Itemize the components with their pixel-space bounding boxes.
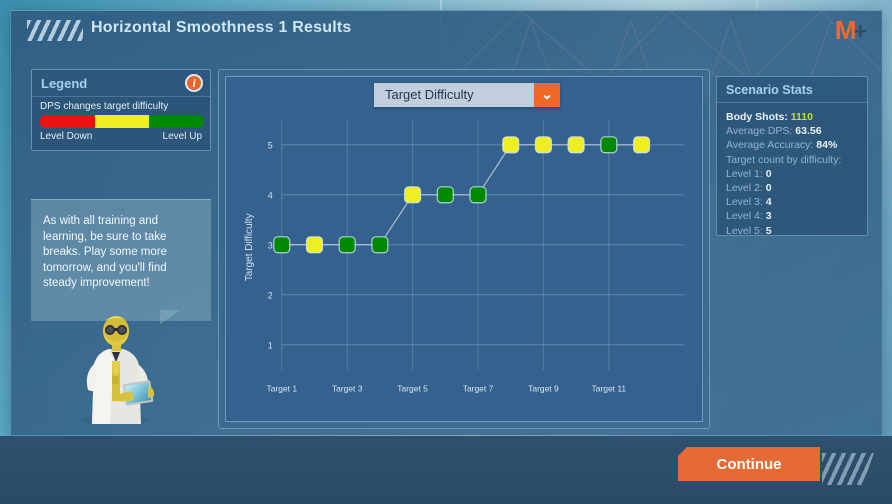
legend-panel: Legend i DPS changes target difficulty L… [31, 69, 211, 151]
data-point-marker[interactable] [372, 237, 388, 253]
x-axis-tick-label: Target 5 [397, 384, 428, 394]
stat-row: Average DPS: 63.56 [726, 124, 867, 138]
legend-color-green [149, 115, 204, 128]
data-point-marker[interactable] [535, 137, 551, 153]
stat-row: Level 5: 5 [726, 224, 867, 238]
scenario-stats-header: Scenario Stats [717, 77, 867, 103]
y-axis-tick-label: 2 [268, 290, 273, 300]
stat-row: Level 2: 0 [726, 181, 867, 195]
stat-value: 84% [813, 139, 837, 151]
stat-row: Level 4: 3 [726, 209, 867, 223]
y-axis-tick-label: 4 [268, 190, 273, 200]
data-point-marker[interactable] [568, 137, 584, 153]
y-axis-label: Target Difficulty [244, 213, 255, 281]
info-icon[interactable]: i [185, 74, 203, 92]
chart-plot-area: 12345Target 1Target 3Target 5Target 7Tar… [225, 76, 703, 422]
title-bar: Horizontal Smoothness 1 Results M+ [11, 11, 881, 49]
metric-dropdown[interactable]: Target Difficulty ⌄ [374, 83, 560, 107]
stat-value: 0 [763, 168, 772, 180]
data-point-marker[interactable] [470, 187, 486, 203]
stat-label: Level 2: [726, 182, 763, 194]
tip-bubble-tail [160, 310, 180, 324]
target-difficulty-chart: 12345Target 1Target 3Target 5Target 7Tar… [226, 77, 702, 422]
avatar-character [62, 312, 170, 424]
diagonal-stripes-icon [822, 453, 874, 485]
stat-label: Level 3: [726, 196, 763, 208]
data-point-marker[interactable] [274, 237, 290, 253]
legend-header: Legend i [32, 70, 210, 97]
x-axis-tick-label: Target 3 [332, 384, 363, 394]
stat-value: 63.56 [792, 125, 821, 137]
legend-color-yellow [95, 115, 150, 128]
stat-label: Level 1: [726, 168, 763, 180]
data-point-marker[interactable] [307, 237, 323, 253]
scenario-stats-list: Body Shots: 1110Average DPS: 63.56Averag… [717, 103, 867, 238]
stat-label: Body Shots: [726, 111, 788, 123]
scenario-stats-title: Scenario Stats [717, 77, 867, 97]
logo-plus: + [854, 18, 867, 44]
legend-left-label: Level Down [40, 131, 92, 142]
y-axis-tick-label: 5 [268, 140, 273, 150]
footer-bar: Continue [0, 436, 892, 504]
legend-right-label: Level Up [163, 131, 202, 142]
data-point-marker[interactable] [503, 137, 519, 153]
stat-value: 4 [763, 196, 772, 208]
data-point-marker[interactable] [634, 137, 650, 153]
stat-row: Level 1: 0 [726, 167, 867, 181]
tip-text: As with all training and learning, be su… [43, 214, 201, 292]
stat-row: Level 3: 4 [726, 195, 867, 209]
stat-label: Average Accuracy: [726, 139, 813, 151]
data-point-marker[interactable] [405, 187, 421, 203]
x-axis-tick-label: Target 11 [592, 384, 627, 394]
continue-area: Continue [678, 447, 878, 489]
tip-panel: As with all training and learning, be su… [31, 199, 211, 321]
stat-label: Target count by difficulty: [726, 154, 841, 166]
y-axis-tick-label: 1 [268, 340, 273, 350]
stat-row: Target count by difficulty: [726, 153, 867, 167]
stat-label: Level 5: [726, 225, 763, 237]
legend-title: Legend [41, 76, 87, 91]
page-title: Horizontal Smoothness 1 Results [91, 19, 351, 37]
x-axis-tick-label: Target 9 [528, 384, 559, 394]
stat-value: 5 [763, 225, 772, 237]
stat-value: 3 [763, 210, 772, 222]
stat-value: 0 [763, 182, 772, 194]
continue-button[interactable]: Continue [678, 447, 820, 481]
data-point-marker[interactable] [601, 137, 617, 153]
stat-label: Level 4: [726, 210, 763, 222]
legend-subtitle: DPS changes target difficulty [40, 101, 168, 112]
stat-row: Average Accuracy: 84% [726, 138, 867, 152]
diagonal-stripes-icon [27, 20, 83, 41]
chart-card: 12345Target 1Target 3Target 5Target 7Tar… [218, 69, 710, 429]
stat-value: 1110 [788, 111, 813, 123]
x-axis-tick-label: Target 1 [266, 384, 297, 394]
data-point-marker[interactable] [437, 187, 453, 203]
legend-footer: Level Down Level Up [40, 131, 202, 142]
stat-label: Average DPS: [726, 125, 792, 137]
data-point-marker[interactable] [339, 237, 355, 253]
y-axis-tick-label: 3 [268, 240, 273, 250]
stat-row: Body Shots: 1110 [726, 110, 867, 124]
metric-dropdown-value[interactable]: Target Difficulty [374, 83, 534, 107]
chevron-down-icon[interactable]: ⌄ [534, 83, 560, 107]
brand-logo: M+ [835, 17, 867, 43]
legend-gradient-bar [40, 115, 204, 128]
scenario-stats-panel: Scenario Stats Body Shots: 1110Average D… [716, 76, 868, 236]
x-axis-tick-label: Target 7 [463, 384, 494, 394]
legend-color-red [40, 115, 95, 128]
